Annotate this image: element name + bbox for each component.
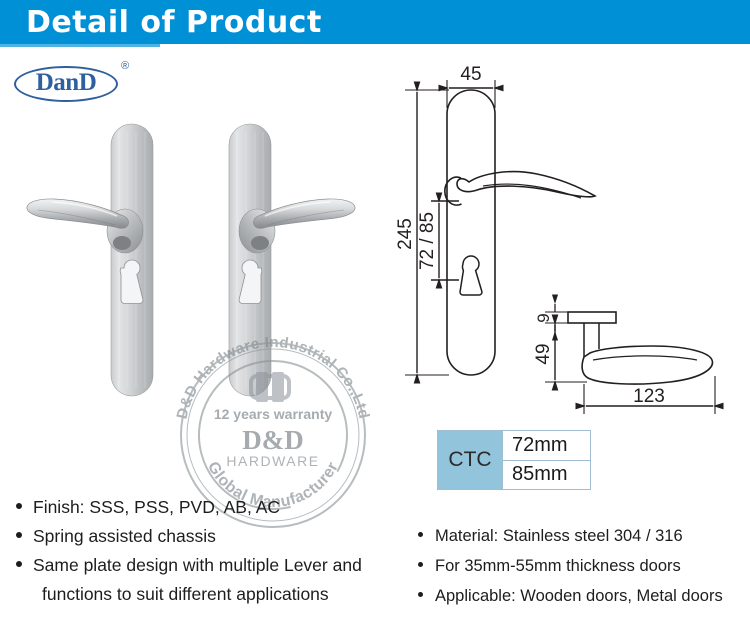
feature-item-material: Material: Stainless steel 304 / 316 <box>418 522 750 550</box>
technical-drawing: 45 245 72 / 85 9 49 123 <box>385 64 750 424</box>
ctc-value-72mm: 72mm <box>503 431 590 461</box>
feature-text: Material: Stainless steel 304 / 316 <box>435 527 683 545</box>
bullet-icon <box>418 592 423 597</box>
registered-trademark-icon: ® <box>121 60 129 72</box>
dimension-label-lever-length: 123 <box>633 386 665 407</box>
feature-item-plate-design-line2: functions to suit different applications <box>16 581 396 608</box>
bullet-icon <box>16 532 22 538</box>
features-left-column: Finish: SSS, PSS, PVD, AB, AC Spring ass… <box>16 494 396 610</box>
watermark-brand-subtext: HARDWARE <box>226 453 319 469</box>
bullet-icon <box>418 532 423 537</box>
feature-text: For 35mm-55mm thickness doors <box>435 557 681 575</box>
drawing-keyhole <box>460 256 482 295</box>
product-photo-right-handle <box>196 118 364 405</box>
drawing-lever <box>457 172 595 197</box>
drawing-backplate <box>447 90 495 375</box>
feature-item-chassis: Spring assisted chassis <box>16 523 396 550</box>
header-banner-underline <box>0 44 160 47</box>
feature-item-door-thickness: For 35mm-55mm thickness doors <box>418 552 750 580</box>
bullet-icon <box>16 503 22 509</box>
dimension-label-center-distance: 72 / 85 <box>417 212 438 270</box>
features-section: Finish: SSS, PSS, PVD, AB, AC Spring ass… <box>0 494 750 638</box>
ctc-value-85mm: 85mm <box>503 461 590 490</box>
dimension-label-lever-height: 49 <box>533 343 554 364</box>
dimension-label-rose-thickness: 9 <box>534 313 553 322</box>
features-right-column: Material: Stainless steel 304 / 316 For … <box>418 522 750 612</box>
brand-logo: DanD ® <box>14 58 134 104</box>
drawing-side-rose <box>568 312 616 323</box>
feature-text: Same plate design with multiple Lever an… <box>33 555 362 575</box>
dimension-label-width: 45 <box>460 64 481 85</box>
dimension-label-height: 245 <box>395 218 416 250</box>
bullet-icon <box>418 562 423 567</box>
ctc-values: 72mm 85mm <box>502 431 590 489</box>
bullet-icon <box>16 561 22 567</box>
feature-item-applicable: Applicable: Wooden doors, Metal doors <box>418 582 750 610</box>
product-photo-left-handle <box>18 118 186 405</box>
page-title: Detail of Product <box>26 4 322 42</box>
ctc-label-cell: CTC <box>438 431 502 489</box>
feature-item-finish: Finish: SSS, PSS, PVD, AB, AC <box>16 494 396 521</box>
drawing-side-lever <box>582 346 712 384</box>
watermark-brand-text: D&D <box>242 425 304 455</box>
ctc-table: CTC 72mm 85mm <box>437 430 591 490</box>
feature-text: Spring assisted chassis <box>33 526 216 546</box>
feature-text: Applicable: Wooden doors, Metal doors <box>435 587 723 605</box>
feature-text: functions to suit different applications <box>42 584 329 604</box>
feature-item-plate-design: Same plate design with multiple Lever an… <box>16 552 396 579</box>
feature-text: Finish: SSS, PSS, PVD, AB, AC <box>33 497 280 517</box>
logo-text: DanD <box>14 66 118 102</box>
watermark-warranty-text: 12 years warranty <box>214 406 333 422</box>
